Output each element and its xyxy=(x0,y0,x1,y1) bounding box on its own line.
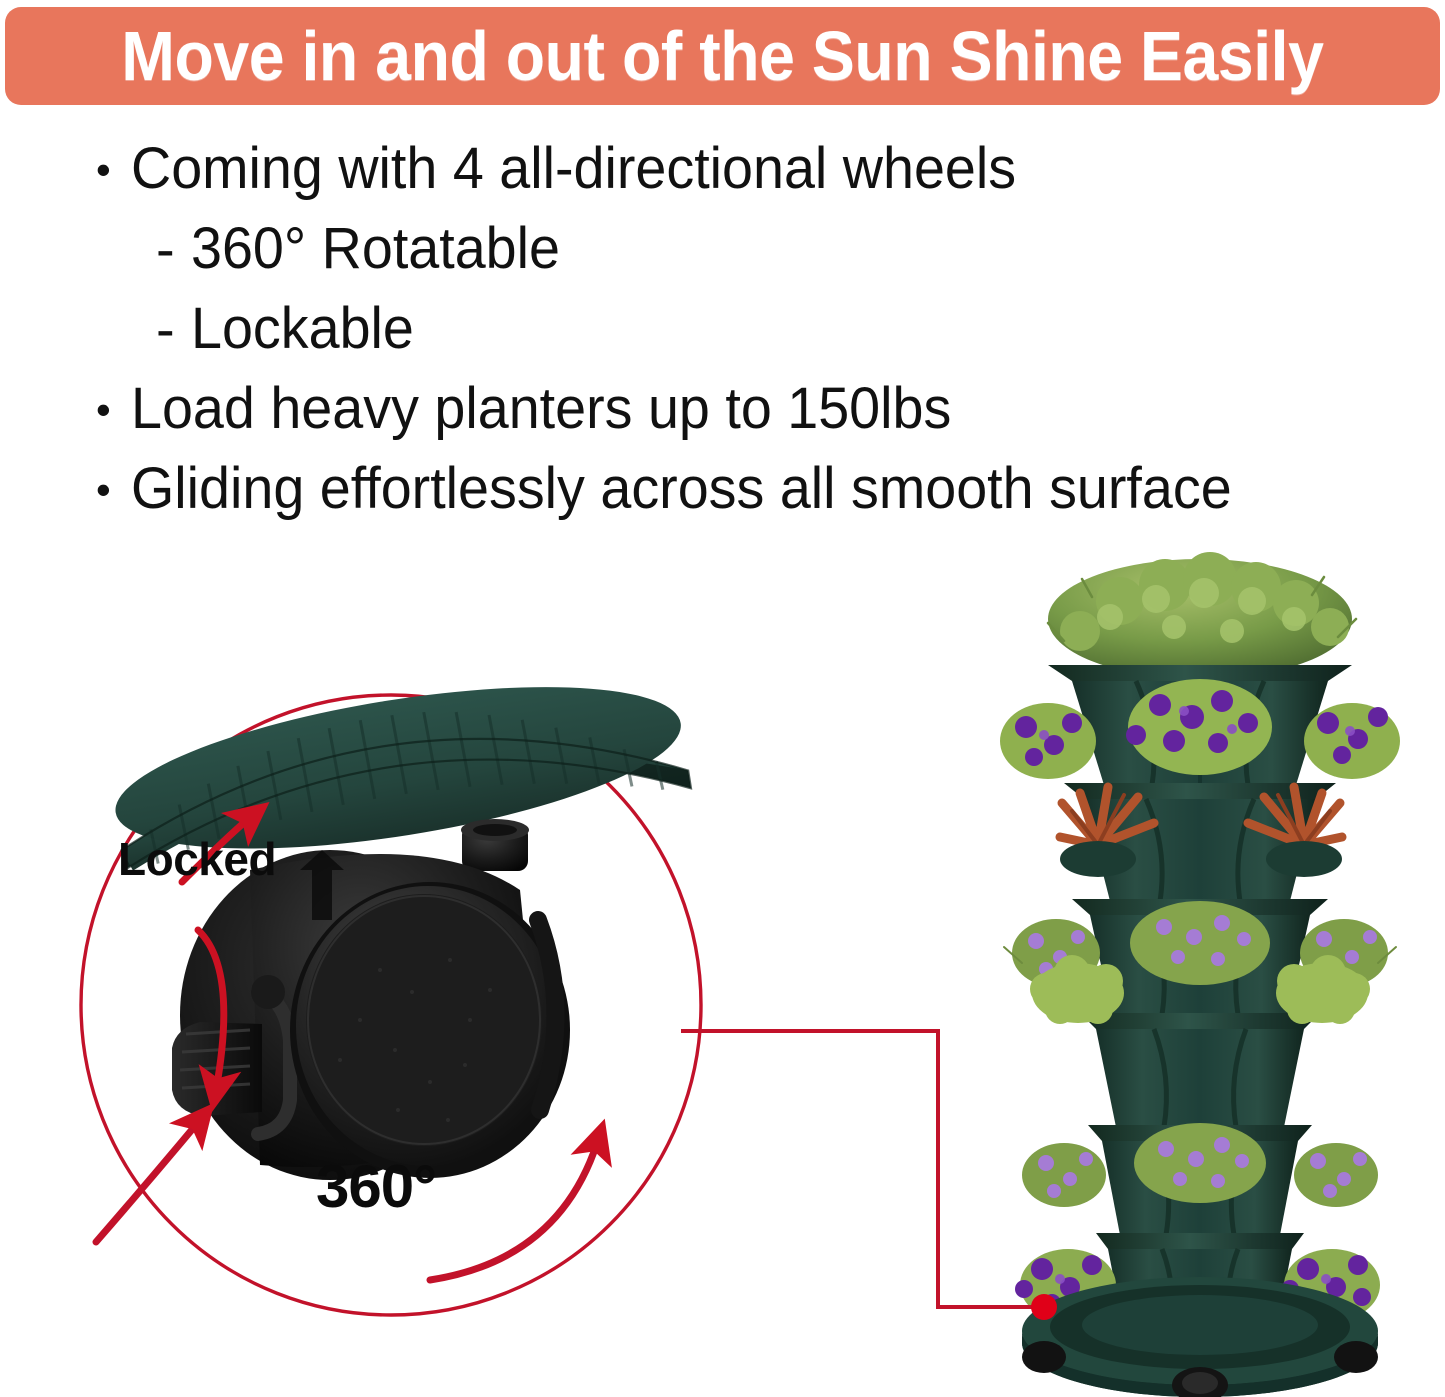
bullet-dot-icon: • xyxy=(96,389,111,431)
tier-foliage-top xyxy=(1048,552,1356,679)
rotation-label: 360° xyxy=(316,1152,436,1221)
list-item-label: Gliding effortlessly across all smooth s… xyxy=(131,460,1232,518)
tier-2 xyxy=(1060,783,1342,901)
tier-1 xyxy=(1000,665,1400,785)
list-item-label: Coming with 4 all-directional wheels xyxy=(131,140,1016,198)
bullet-dot-icon: • xyxy=(96,149,111,191)
dash-marker-icon: - xyxy=(156,301,175,357)
caster-illustration xyxy=(0,620,760,1360)
dash-marker-icon: - xyxy=(156,221,175,277)
tier-5 xyxy=(1022,1123,1378,1235)
bullet-dot-icon: • xyxy=(96,469,111,511)
list-item: • Load heavy planters up to 150lbs xyxy=(96,380,1426,438)
locked-label: Locked xyxy=(118,832,276,886)
planter-tower-illustration xyxy=(960,545,1430,1397)
list-item-label: Load heavy planters up to 150lbs xyxy=(131,380,951,438)
list-item-label: 360° Rotatable xyxy=(191,220,560,278)
caster-wheel xyxy=(172,850,570,1180)
caster-stem xyxy=(461,819,529,871)
list-item: - Lockable xyxy=(96,300,1426,358)
list-item: - 360° Rotatable xyxy=(96,220,1426,278)
header-banner: Move in and out of the Sun Shine Easily xyxy=(5,7,1440,105)
banner-title: Move in and out of the Sun Shine Easily xyxy=(121,21,1323,91)
product-image-planter-tower xyxy=(960,545,1430,1397)
caster-callout xyxy=(0,620,760,1360)
feature-list: • Coming with 4 all-directional wheels -… xyxy=(96,140,1426,540)
list-item-label: Lockable xyxy=(191,300,414,358)
list-item: • Coming with 4 all-directional wheels xyxy=(96,140,1426,198)
list-item: • Gliding effortlessly across all smooth… xyxy=(96,460,1426,518)
